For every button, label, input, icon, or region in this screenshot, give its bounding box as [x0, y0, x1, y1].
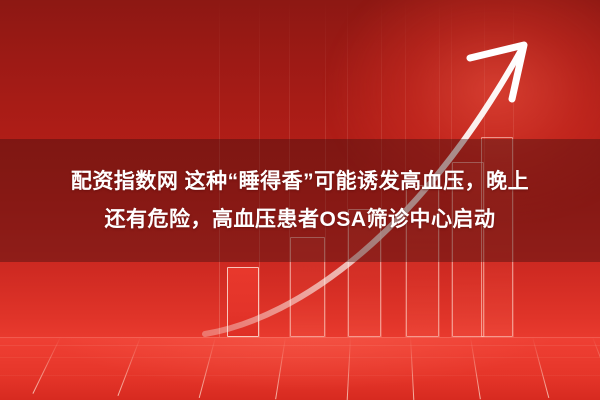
chart-bar	[227, 267, 259, 337]
banner-image: 配资指数网 这种“睡得香”可能诱发高血压，晚上 还有危险，高血压患者OSA筛诊中…	[0, 0, 600, 400]
headline: 配资指数网 这种“睡得香”可能诱发高血压，晚上 还有危险，高血压患者OSA筛诊中…	[0, 139, 600, 262]
headline-line-2: 还有危险，高血压患者OSA筛诊中心启动	[104, 201, 495, 239]
headline-line-1: 配资指数网 这种“睡得香”可能诱发高血压，晚上	[71, 163, 529, 201]
